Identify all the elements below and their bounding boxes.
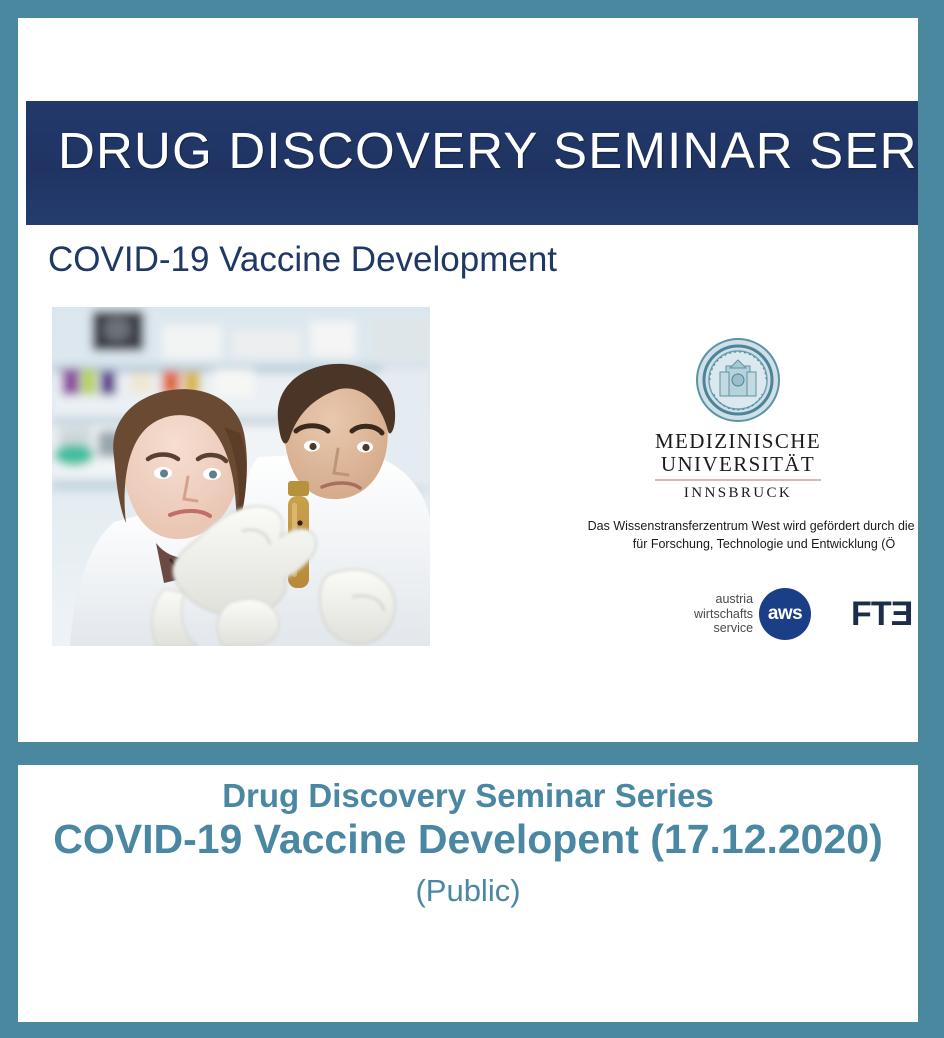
funding-note-text: Das Wissenstransferzentrum West wird gef… xyxy=(562,517,918,553)
university-name-line-1: MEDIZINISCHE xyxy=(643,430,833,453)
laboratory-photo xyxy=(52,307,430,646)
fte-logo: FTƎ NATIONAL FORSCHUNG xyxy=(851,597,918,631)
aws-word-line-3: service xyxy=(694,621,753,636)
aws-word-line-1: austria xyxy=(694,592,753,607)
slide-preview-card[interactable]: DRUG DISCOVERY SEMINAR SERIES COVID-19 V… xyxy=(18,18,918,742)
aws-word-line-2: wirtschafts xyxy=(694,607,753,622)
medizinische-universitaet-innsbruck-logo: MEDIZINISCHE UNIVERSITÄT INNSBRUCK xyxy=(643,338,833,502)
logo-divider xyxy=(655,479,821,481)
aws-badge-icon: aws xyxy=(759,588,811,640)
slide-subtitle-text: COVID-19 Vaccine Development xyxy=(48,240,557,280)
caption-talk-title: COVID-19 Vaccine Developent (17.12.2020) xyxy=(18,816,918,863)
slide-title-text: DRUG DISCOVERY SEMINAR SERIES xyxy=(58,121,918,180)
university-name-line-2: UNIVERSITÄT xyxy=(643,453,833,476)
university-seal-icon xyxy=(696,338,780,422)
university-name-line-3: INNSBRUCK xyxy=(643,485,833,502)
aws-wordmark: austria wirtschafts service xyxy=(694,592,753,636)
caption-card: Drug Discovery Seminar Series COVID-19 V… xyxy=(18,765,918,1022)
slide-title-band: DRUG DISCOVERY SEMINAR SERIES xyxy=(26,101,918,225)
caption-series-title: Drug Discovery Seminar Series xyxy=(18,777,918,816)
lab-photo-illustration xyxy=(52,307,430,646)
sponsor-logo-row: austria wirtschafts service aws FTƎ NATI… xyxy=(694,588,918,640)
caption-access-label: (Public) xyxy=(18,871,918,911)
aws-logo: austria wirtschafts service aws xyxy=(694,588,811,640)
university-logo-block: MEDIZINISCHE UNIVERSITÄT INNSBRUCK xyxy=(548,338,918,502)
fte-mark-icon: FTƎ xyxy=(851,597,912,631)
